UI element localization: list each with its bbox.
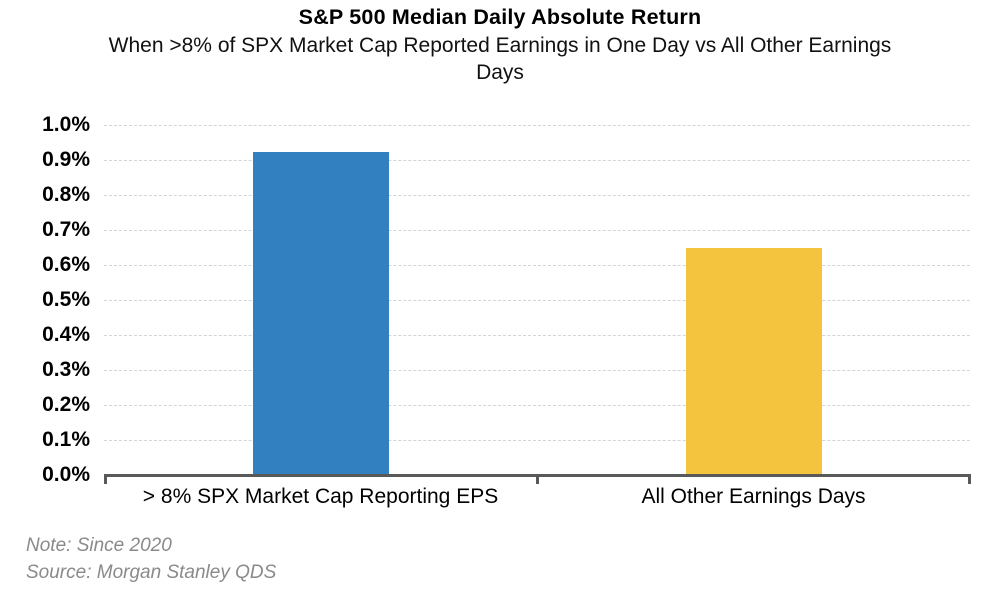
note-line: Note: Since 2020 [26,532,276,559]
chart-container: S&P 500 Median Daily Absolute Return Whe… [0,0,1000,600]
chart-footnotes: Note: Since 2020 Source: Morgan Stanley … [26,532,276,586]
y-axis-tick-label: 0.1% [42,428,90,452]
y-axis-tick-label: 0.9% [42,148,90,172]
bar-series [104,125,970,475]
y-axis-tick-label: 0.4% [42,323,90,347]
x-axis-category-label: > 8% SPX Market Cap Reporting EPS [143,485,498,509]
y-axis-tick-labels: 0.0%0.1%0.2%0.3%0.4%0.5%0.6%0.7%0.8%0.9%… [0,125,96,475]
chart-title: S&P 500 Median Daily Absolute Return [0,4,1000,30]
source-line: Source: Morgan Stanley QDS [26,559,276,586]
y-axis-tick-label: 0.7% [42,218,90,242]
y-axis-tick-label: 1.0% [42,113,90,137]
chart-subtitle: When >8% of SPX Market Cap Reported Earn… [100,32,900,86]
x-axis-tick-middle [536,474,539,484]
y-axis-tick-label: 0.3% [42,358,90,382]
bar-1[interactable] [686,248,822,475]
chart-title-block: S&P 500 Median Daily Absolute Return Whe… [0,4,1000,86]
y-axis-tick-label: 0.2% [42,393,90,417]
x-axis-category-labels: > 8% SPX Market Cap Reporting EPSAll Oth… [104,485,971,525]
x-axis-category-label: All Other Earnings Days [641,485,865,509]
y-axis-tick-label: 0.5% [42,288,90,312]
y-axis-tick-label: 0.0% [42,463,90,487]
x-axis-tick-start [104,474,107,484]
y-axis-tick-label: 0.6% [42,253,90,277]
plot-area [104,125,970,475]
bar-0[interactable] [253,152,389,475]
y-axis-tick-label: 0.8% [42,183,90,207]
x-axis-tick-end [968,474,971,484]
